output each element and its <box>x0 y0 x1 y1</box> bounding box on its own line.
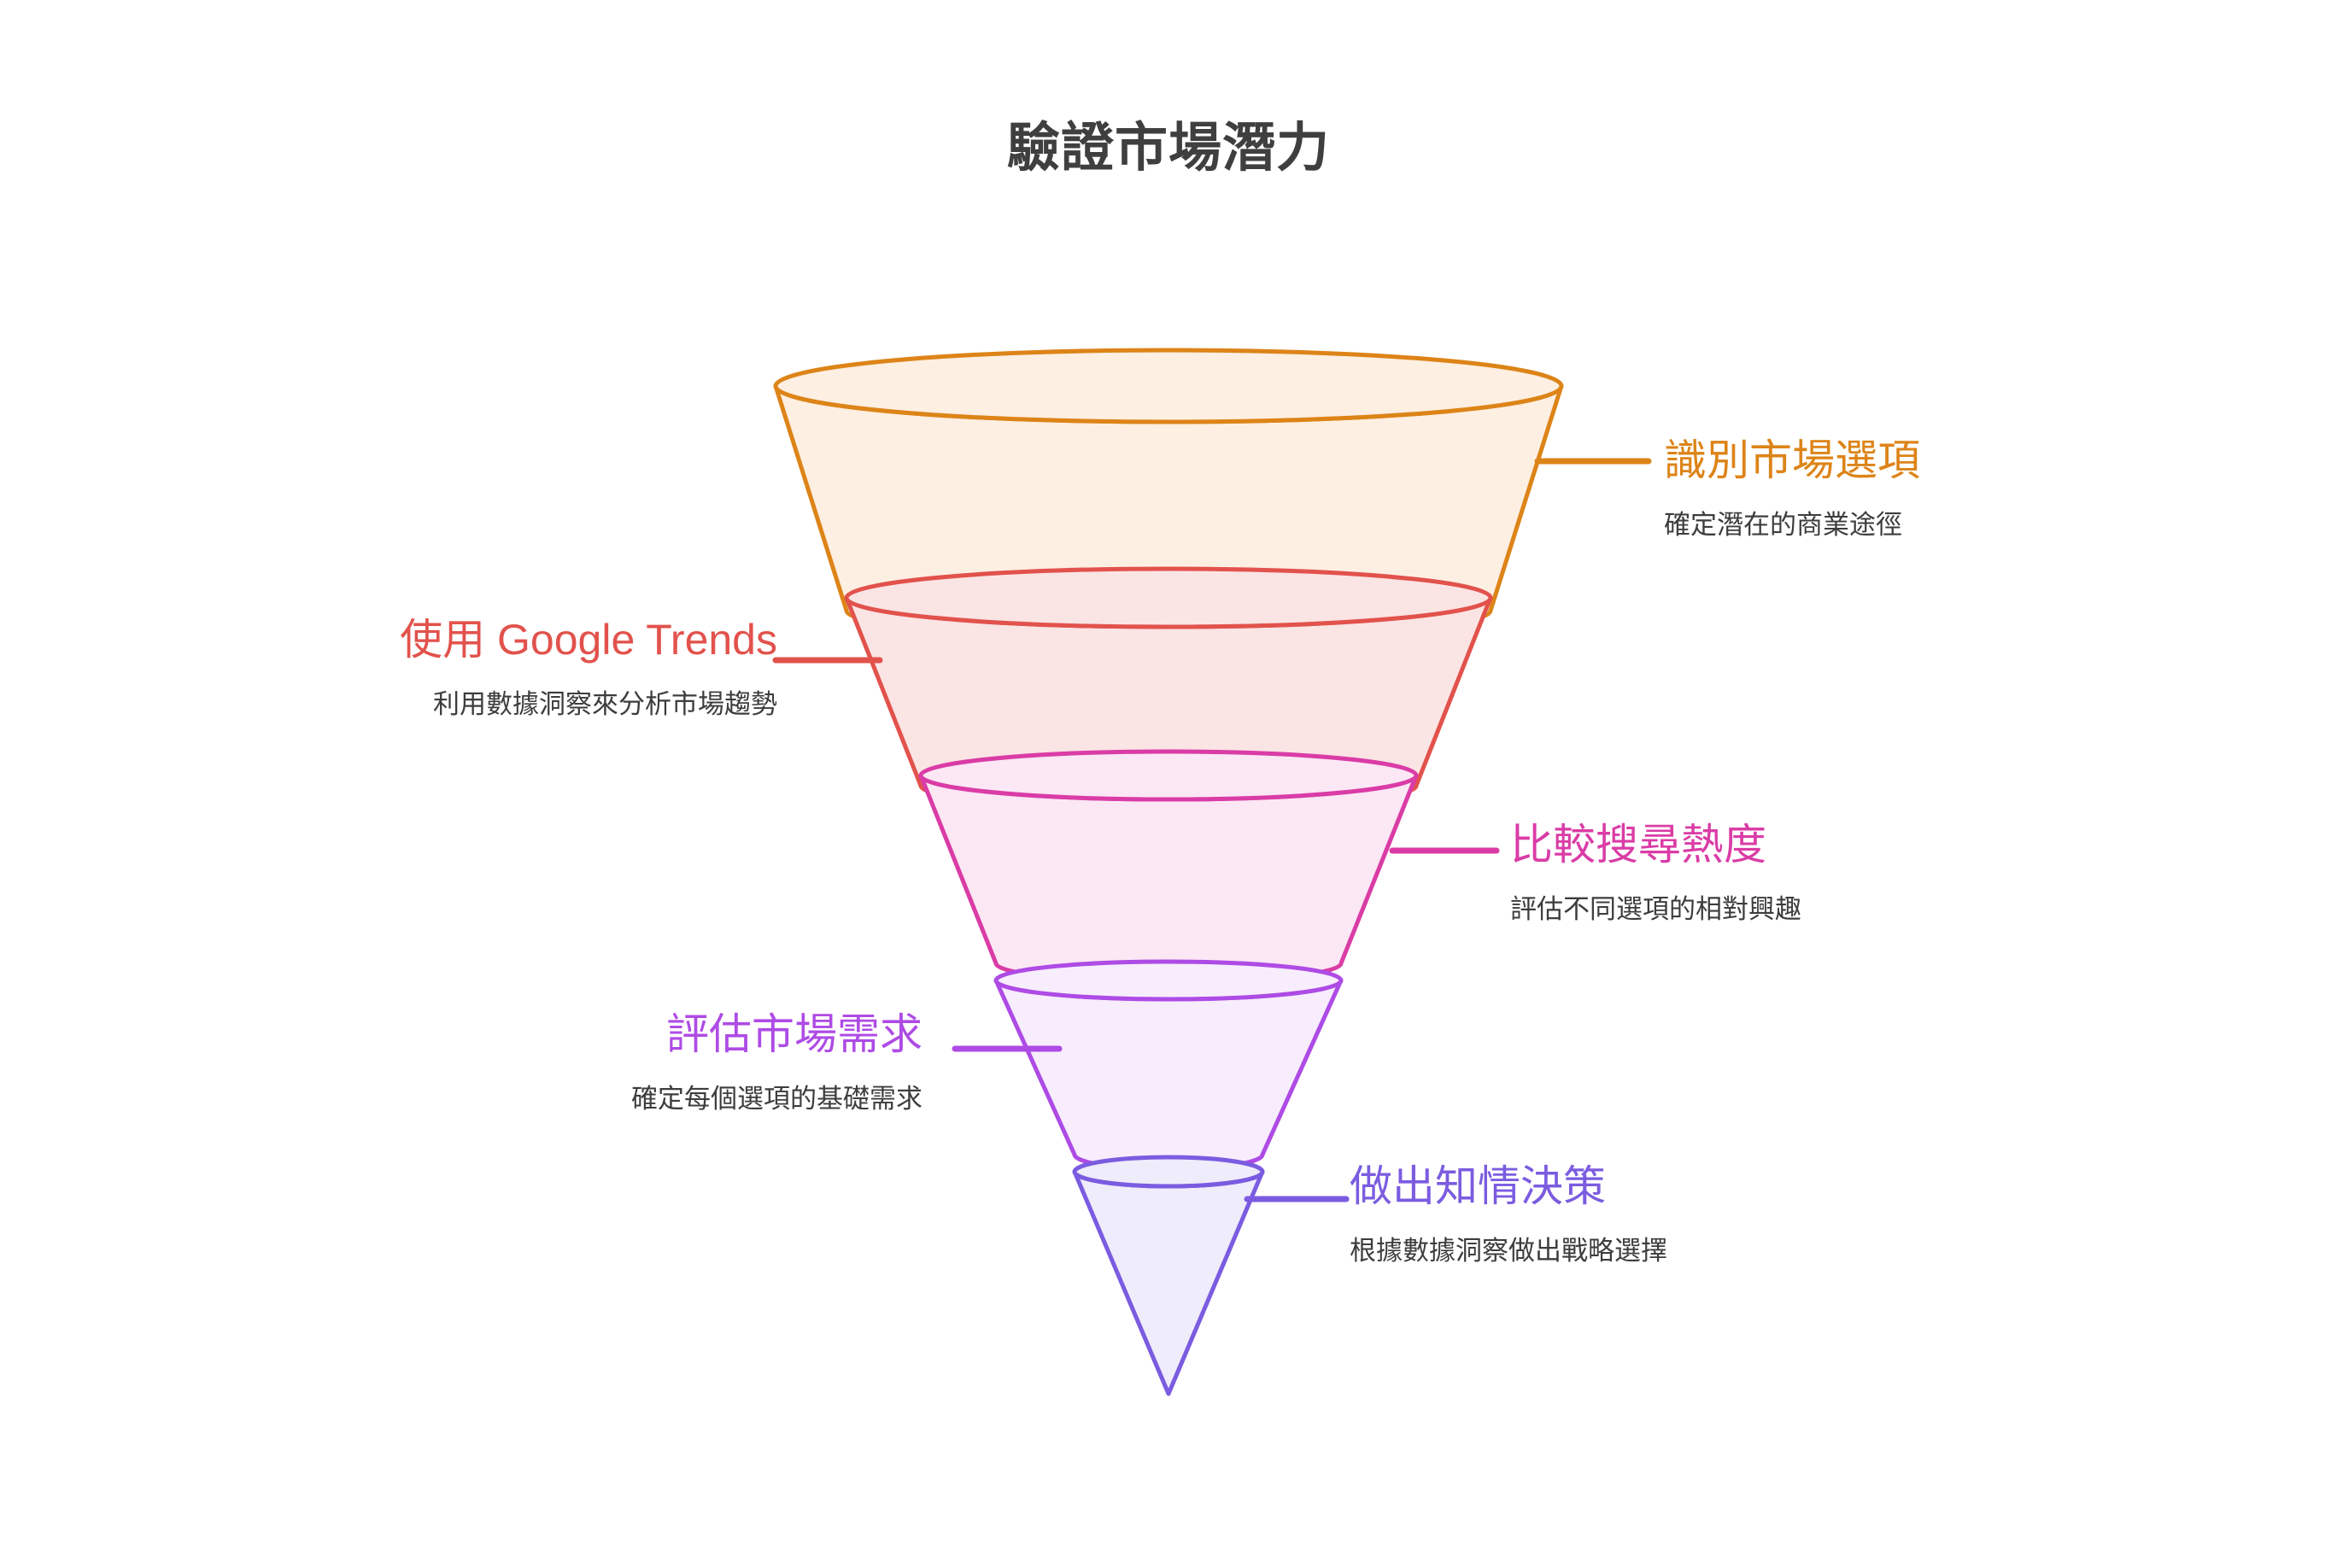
stage-3-top-ellipse <box>921 752 1416 799</box>
stage-3-label-description: 評估不同選項的相對興趣 <box>1510 891 2057 929</box>
funnel-label-stage-4[interactable]: 評估市場需求 確定每個選項的基礎需求 <box>342 1008 922 1118</box>
funnel-diagram-canvas: 驗證市場潛力 <box>0 0 2337 1568</box>
stage-5-body <box>1075 1172 1262 1394</box>
stage-1-label-title: 識別市場選項 <box>1664 434 2211 488</box>
funnel-label-stage-5[interactable]: 做出知情決策 根據數據洞察做出戰略選擇 <box>1350 1160 1913 1270</box>
stage-4-label-description: 確定每個選項的基礎需求 <box>342 1080 922 1119</box>
funnel-graphic <box>0 0 2337 1568</box>
stage-4-label-title: 評估市場需求 <box>342 1008 922 1062</box>
stage-4-top-ellipse <box>996 962 1341 999</box>
funnel-label-stage-1[interactable]: 識別市場選項 確定潛在的商業途徑 <box>1664 434 2211 544</box>
funnel-stage-4[interactable] <box>955 962 1341 1169</box>
stage-4-body <box>996 980 1341 1169</box>
stage-5-top-ellipse <box>1075 1157 1262 1186</box>
stage-2-top-ellipse <box>846 569 1491 627</box>
stage-3-label-title: 比較搜尋熱度 <box>1510 818 2057 872</box>
stage-2-label-title: 使用 Google Trends <box>205 613 777 667</box>
funnel-stage-3[interactable] <box>921 752 1496 982</box>
stage-5-label-description: 根據數據洞察做出戰略選擇 <box>1350 1232 1913 1271</box>
stage-3-body <box>921 775 1416 982</box>
funnel-label-stage-2[interactable]: 使用 Google Trends 利用數據洞察來分析市場趨勢 <box>205 613 777 723</box>
stage-5-label-title: 做出知情決策 <box>1350 1160 1913 1214</box>
stage-1-label-description: 確定潛在的商業途徑 <box>1664 506 2211 545</box>
funnel-stage-5[interactable] <box>1075 1157 1346 1394</box>
funnel-label-stage-3[interactable]: 比較搜尋熱度 評估不同選項的相對興趣 <box>1510 818 2057 928</box>
stage-2-label-description: 利用數據洞察來分析市場趨勢 <box>290 686 777 724</box>
stage-1-top-ellipse <box>776 350 1561 422</box>
